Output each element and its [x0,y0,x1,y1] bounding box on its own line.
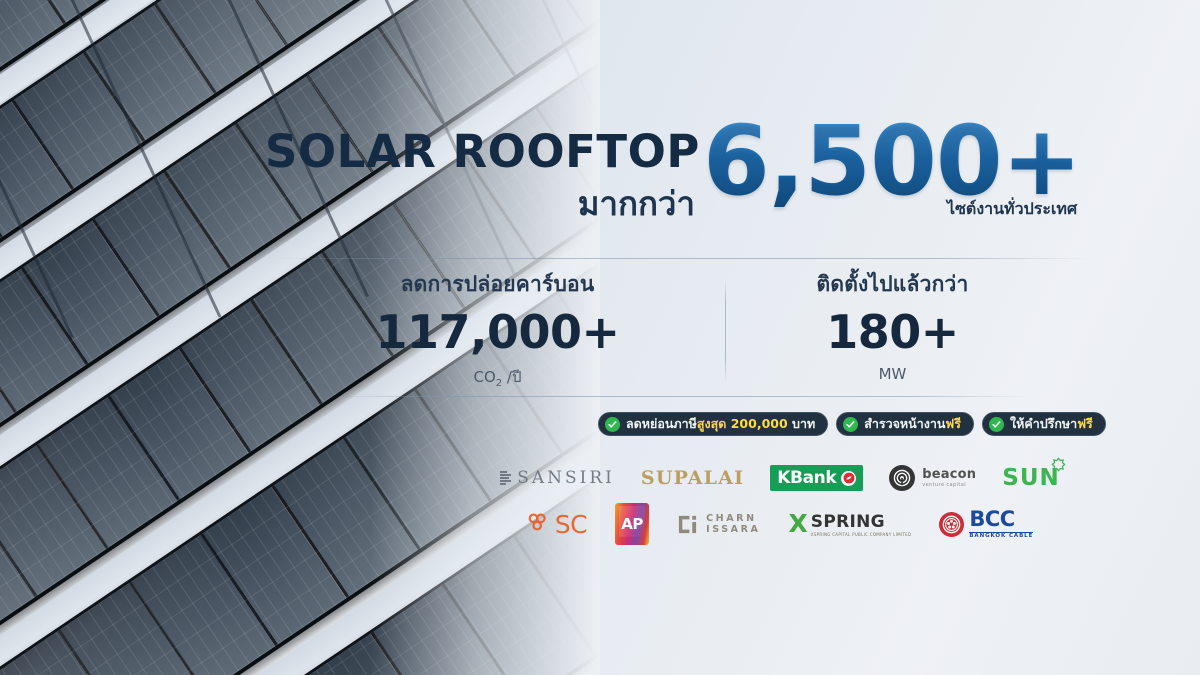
partner-logo-row-2: SC AP CHARN ISSARA [470,501,1090,547]
kbank-leaf-icon [841,471,856,486]
logo-charn-line1: CHARN [706,513,760,524]
badge-label: ลดหย่อนภาษีสูงสุด 200,000 บาท [626,414,815,434]
logo-beacon-text: beacon venture capital [922,468,976,488]
logo-beacon-label: beacon [922,468,976,481]
check-circle-icon [989,417,1004,432]
logo-bcc-label: BCC [969,509,1033,530]
hero-number: 6,500+ [703,116,1081,207]
stat-installed-capacity: ติดตั้งไปแล้วกว่า 180+ MW [695,268,1090,393]
logo-bcc-text: BCC BANGKOK CABLE [969,509,1033,540]
divider-top [272,258,1090,259]
logo-xspring-sublabel: XSPRING CAPITAL PUBLIC COMPANY LIMITED [811,533,912,537]
headline-subtitle: มากกว่า [265,177,695,230]
badge-tax-deduction[interactable]: ลดหย่อนภาษีสูงสุด 200,000 บาท [598,412,828,436]
logo-charn-line2: ISSARA [706,524,760,535]
badge-label: ให้คำปรึกษาฟรี [1010,414,1093,434]
charn-issara-mark-icon [677,514,698,535]
beacon-signal-icon [889,465,915,491]
badge-label: สำรวจหน้างานฟรี [864,414,961,434]
stat-value: 180+ [695,309,1090,355]
logo-bcc-sublabel: BANGKOK CABLE [969,532,1033,540]
logo-kbank: KBank [770,465,863,491]
logo-supalai: SUPALAI [641,467,744,489]
partner-logo-row-1: SANSIRI SUPALAI KBank [470,455,1090,501]
logo-sansiri-label: SANSIRI [517,468,615,488]
sun-star-icon [1051,452,1066,478]
hero-number-group: 6,500+ ไซต์งานทั่วประเทศ [703,116,1081,222]
stat-value: 117,000+ [300,309,695,355]
check-circle-icon [605,417,620,432]
sansiri-bars-icon [500,471,511,485]
bcc-cable-icon [939,512,964,537]
logo-xspring-x: X [789,511,808,536]
logo-sc-asset: SC [527,510,587,539]
logo-sansiri: SANSIRI [500,468,615,488]
divider-bottom [330,396,1030,397]
logo-supalai-label: SUPALAI [641,467,744,489]
stat-unit: MW [695,365,1090,386]
stats-row: ลดการปล่อยคาร์บอน 117,000+ CO2 /ปี ติดตั… [300,268,1090,393]
stat-label: ลดการปล่อยคาร์บอน [300,268,695,301]
logo-charn-issara: CHARN ISSARA [677,513,760,535]
logo-beacon-sublabel: venture capital [922,483,976,488]
stat-unit: CO2 /ปี [300,365,695,389]
content-layer: SOLAR ROOFTOP มากกว่า 6,500+ ไซต์งานทั่ว… [0,0,1200,675]
logo-ap-label: AP [615,503,649,545]
logo-xspring-label: SPRING [811,514,912,531]
logo-xspring-text: SPRING XSPRING CAPITAL PUBLIC COMPANY LI… [811,511,912,537]
check-circle-icon [843,417,858,432]
sc-clover-icon [527,510,551,539]
logo-beacon: beacon venture capital [889,465,976,491]
logo-sc-label: SC [555,510,587,539]
solar-rooftop-banner: SOLAR ROOFTOP มากกว่า 6,500+ ไซต์งานทั่ว… [0,0,1200,675]
logo-ap: AP [615,503,649,545]
badge-free-site-survey[interactable]: สำรวจหน้างานฟรี [836,412,974,436]
logo-xspring: X SPRING XSPRING CAPITAL PUBLIC COMPANY … [789,511,912,537]
headline-block: SOLAR ROOFTOP มากกว่า 6,500+ ไซต์งานทั่ว… [265,128,1095,253]
partner-logos: SANSIRI SUPALAI KBank [470,455,1090,547]
logo-kbank-label: KBank [777,468,836,488]
divider-vertical [725,278,726,383]
logo-bcc: BCC BANGKOK CABLE [939,509,1033,540]
logo-sun: SUN [1002,465,1060,491]
stat-label: ติดตั้งไปแล้วกว่า [695,268,1090,301]
headline-text-group: SOLAR ROOFTOP มากกว่า [265,128,695,230]
benefit-badges: ลดหย่อนภาษีสูงสุด 200,000 บาท สำรวจหน้าง… [598,412,1106,436]
stat-carbon-reduction: ลดการปล่อยคาร์บอน 117,000+ CO2 /ปี [300,268,695,393]
logo-charn-issara-text: CHARN ISSARA [706,513,760,535]
badge-free-consultation[interactable]: ให้คำปรึกษาฟรี [982,412,1106,436]
page-title: SOLAR ROOFTOP [265,128,695,175]
